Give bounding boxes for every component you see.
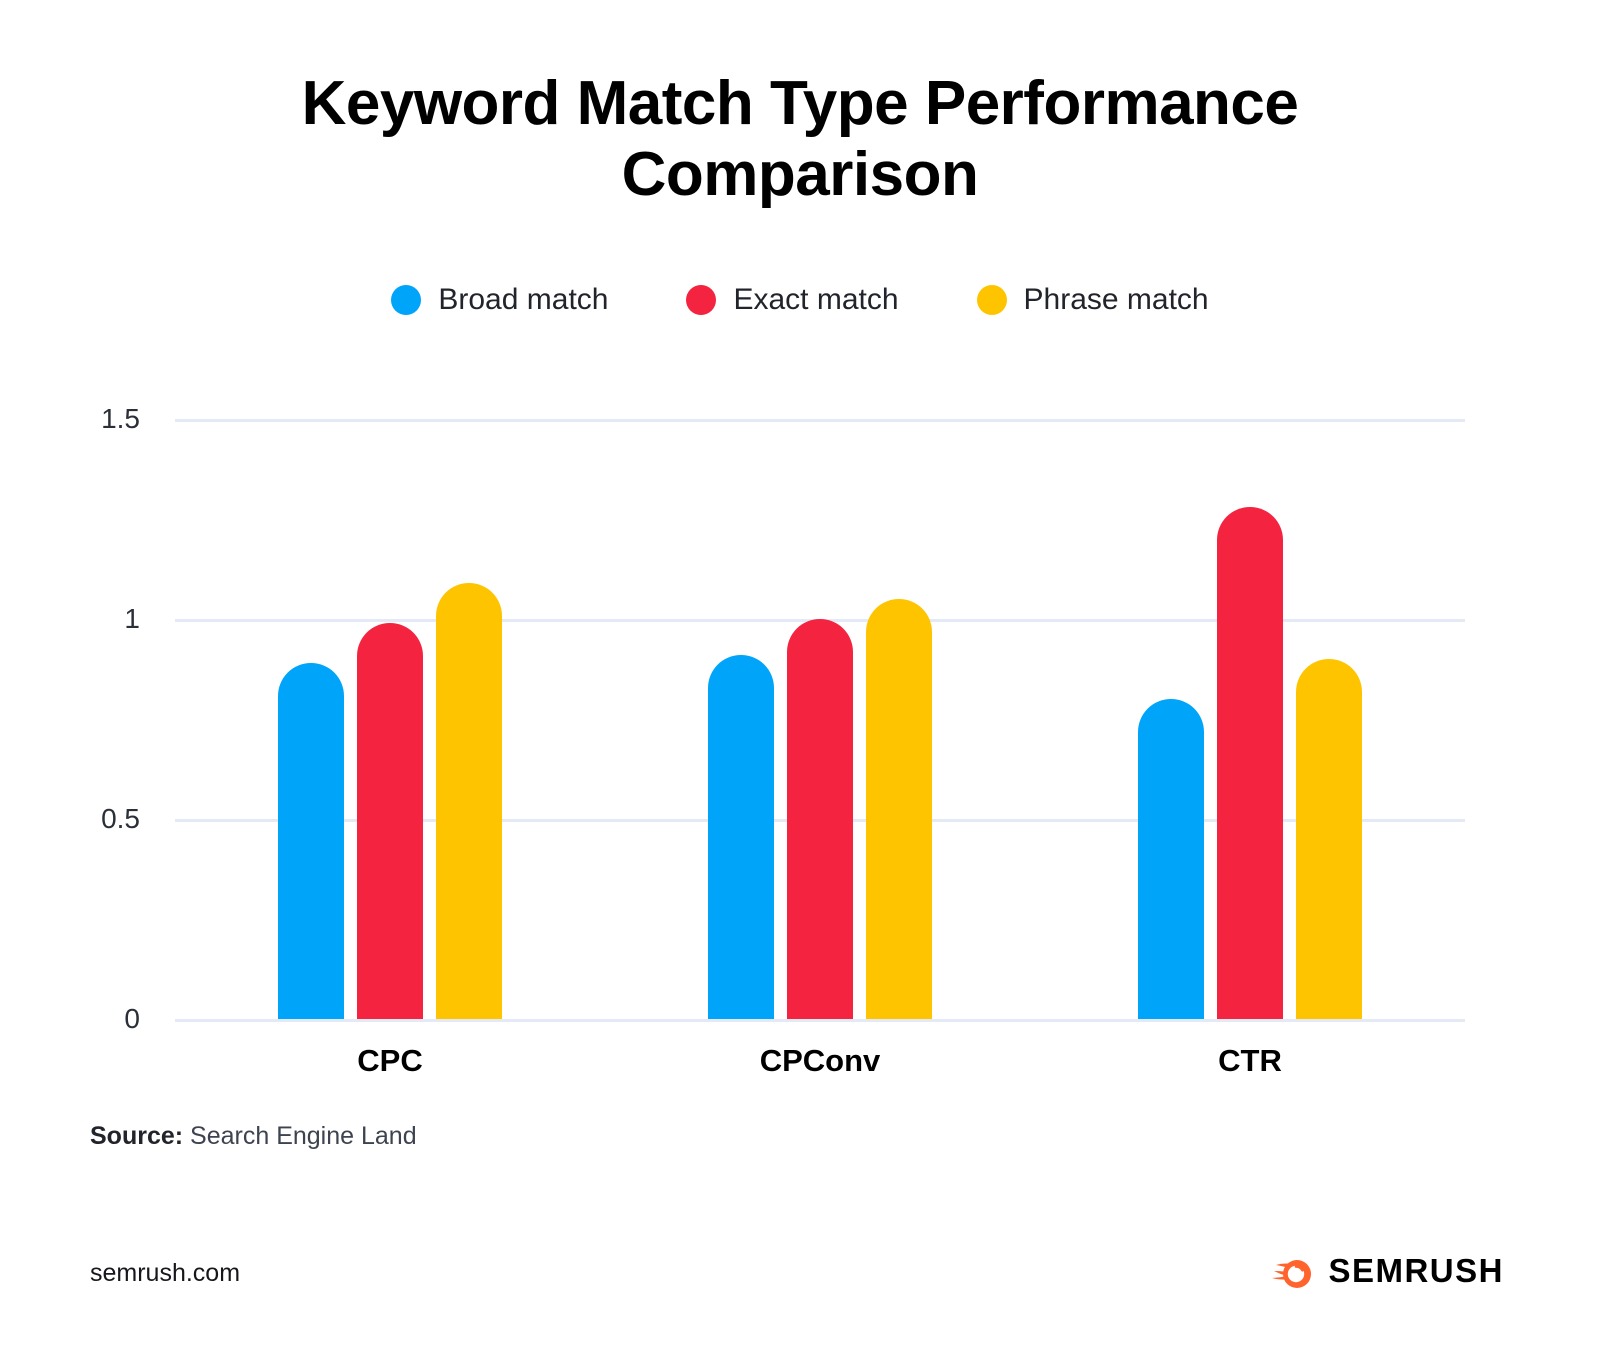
legend-item-label: Broad match [438,283,608,317]
legend-dot-icon [977,285,1007,315]
source-note: Source: Search Engine Land [90,1122,417,1151]
chart-bars: CPC CPConv CTR [175,419,1465,1019]
bar-phrase-match-cpc[interactable] [436,583,502,1019]
source-value: Search Engine Land [190,1122,417,1150]
y-axis-tick-label: 1 [124,603,140,635]
x-axis-tick-label: CPC [175,1043,605,1079]
bar-exact-match-cpconv[interactable] [787,619,853,1019]
footer-website-url: semrush.com [90,1259,240,1288]
legend-item-exact-match: Exact match [686,283,898,317]
bar-broad-match-cpconv[interactable] [708,655,774,1019]
bar-broad-match-ctr[interactable] [1138,699,1204,1019]
x-axis-tick-label: CTR [1035,1043,1465,1079]
chart-legend: Broad match Exact match Phrase match [0,283,1600,317]
y-axis-tick-label: 0 [124,1003,140,1035]
gridline: 0 [175,1019,1465,1022]
bar-group-ctr: CTR [1035,419,1465,1019]
y-axis-tick-label: 1.5 [101,403,140,435]
semrush-logo: SEMRUSH [1270,1252,1504,1290]
page-title: Keyword Match Type Performance Compariso… [120,68,1480,211]
source-label: Source: [90,1122,183,1150]
semrush-comet-icon [1270,1252,1314,1290]
legend-item-broad-match: Broad match [391,283,608,317]
bar-phrase-match-ctr[interactable] [1296,659,1362,1019]
chart-plot-area: 1.5 1 0.5 0 CPC CPConv [175,419,1465,1019]
legend-dot-icon [686,285,716,315]
bar-phrase-match-cpconv[interactable] [866,599,932,1019]
legend-item-label: Phrase match [1024,283,1209,317]
semrush-wordmark: SEMRUSH [1328,1252,1504,1290]
legend-dot-icon [391,285,421,315]
legend-item-phrase-match: Phrase match [977,283,1209,317]
y-axis-tick-label: 0.5 [101,803,140,835]
bar-group-cpc: CPC [175,419,605,1019]
bar-group-cpconv: CPConv [605,419,1035,1019]
bar-exact-match-cpc[interactable] [357,623,423,1019]
legend-item-label: Exact match [733,283,898,317]
bar-broad-match-cpc[interactable] [278,663,344,1019]
bar-exact-match-ctr[interactable] [1217,507,1283,1019]
x-axis-tick-label: CPConv [605,1043,1035,1079]
